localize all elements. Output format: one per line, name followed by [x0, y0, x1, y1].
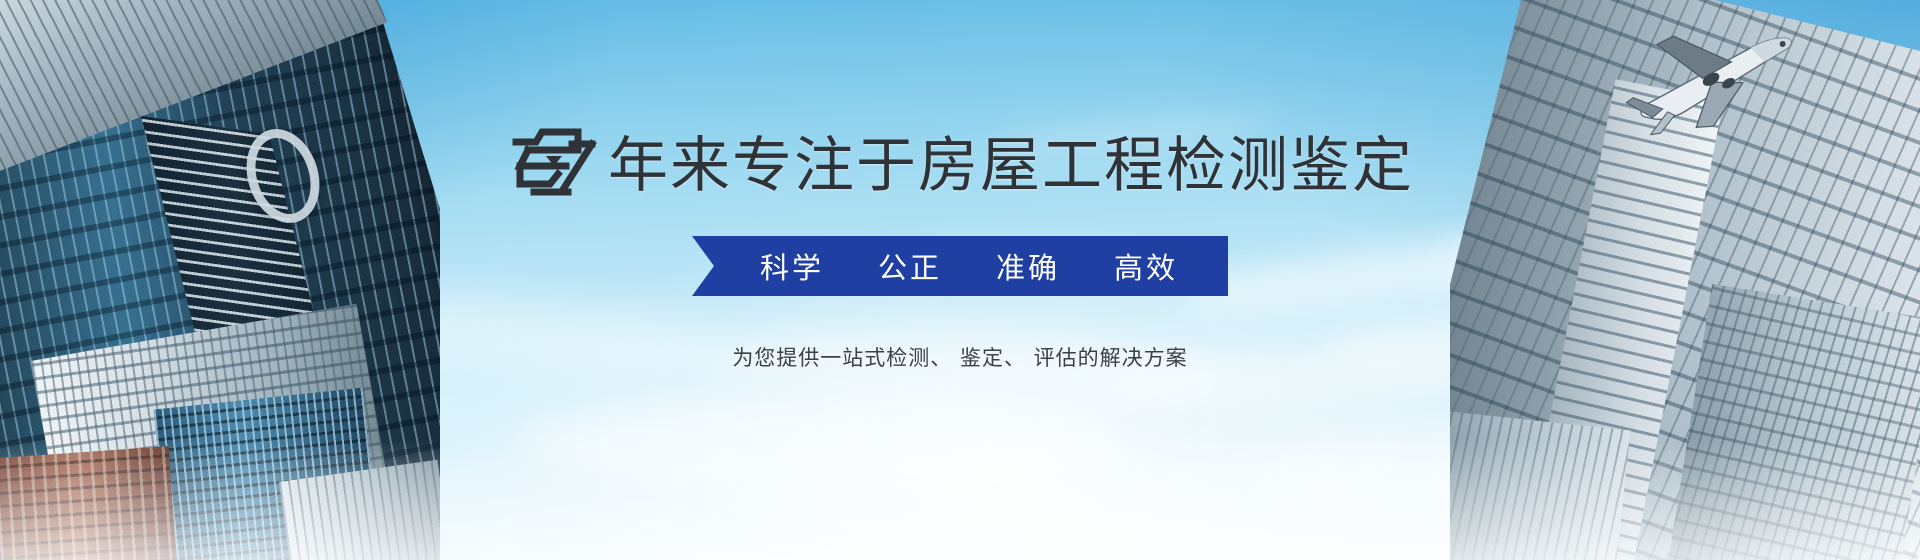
headline-row: 年来专注于房屋工程检测鉴定	[506, 118, 1414, 196]
slogan-word-4: 高效	[1114, 245, 1178, 287]
page-title: 年来专注于房屋工程检测鉴定	[608, 136, 1414, 196]
banner-content: 年来专注于房屋工程检测鉴定 科学 公正 准确 高效 为您提供一站式检测、 鉴定、…	[0, 0, 1920, 560]
hero-banner: 年来专注于房屋工程检测鉴定 科学 公正 准确 高效 为您提供一站式检测、 鉴定、…	[0, 0, 1920, 560]
slogan-list: 科学 公正 准确 高效	[742, 245, 1178, 287]
slogan-word-2: 公正	[878, 245, 942, 287]
logo-duo-character	[506, 126, 602, 200]
slogan-word-3: 准确	[996, 245, 1060, 287]
slogan-word-1: 科学	[760, 245, 824, 287]
subtitle: 为您提供一站式检测、 鉴定、 评估的解决方案	[732, 342, 1187, 372]
slogan-ribbon: 科学 公正 准确 高效	[692, 236, 1228, 296]
